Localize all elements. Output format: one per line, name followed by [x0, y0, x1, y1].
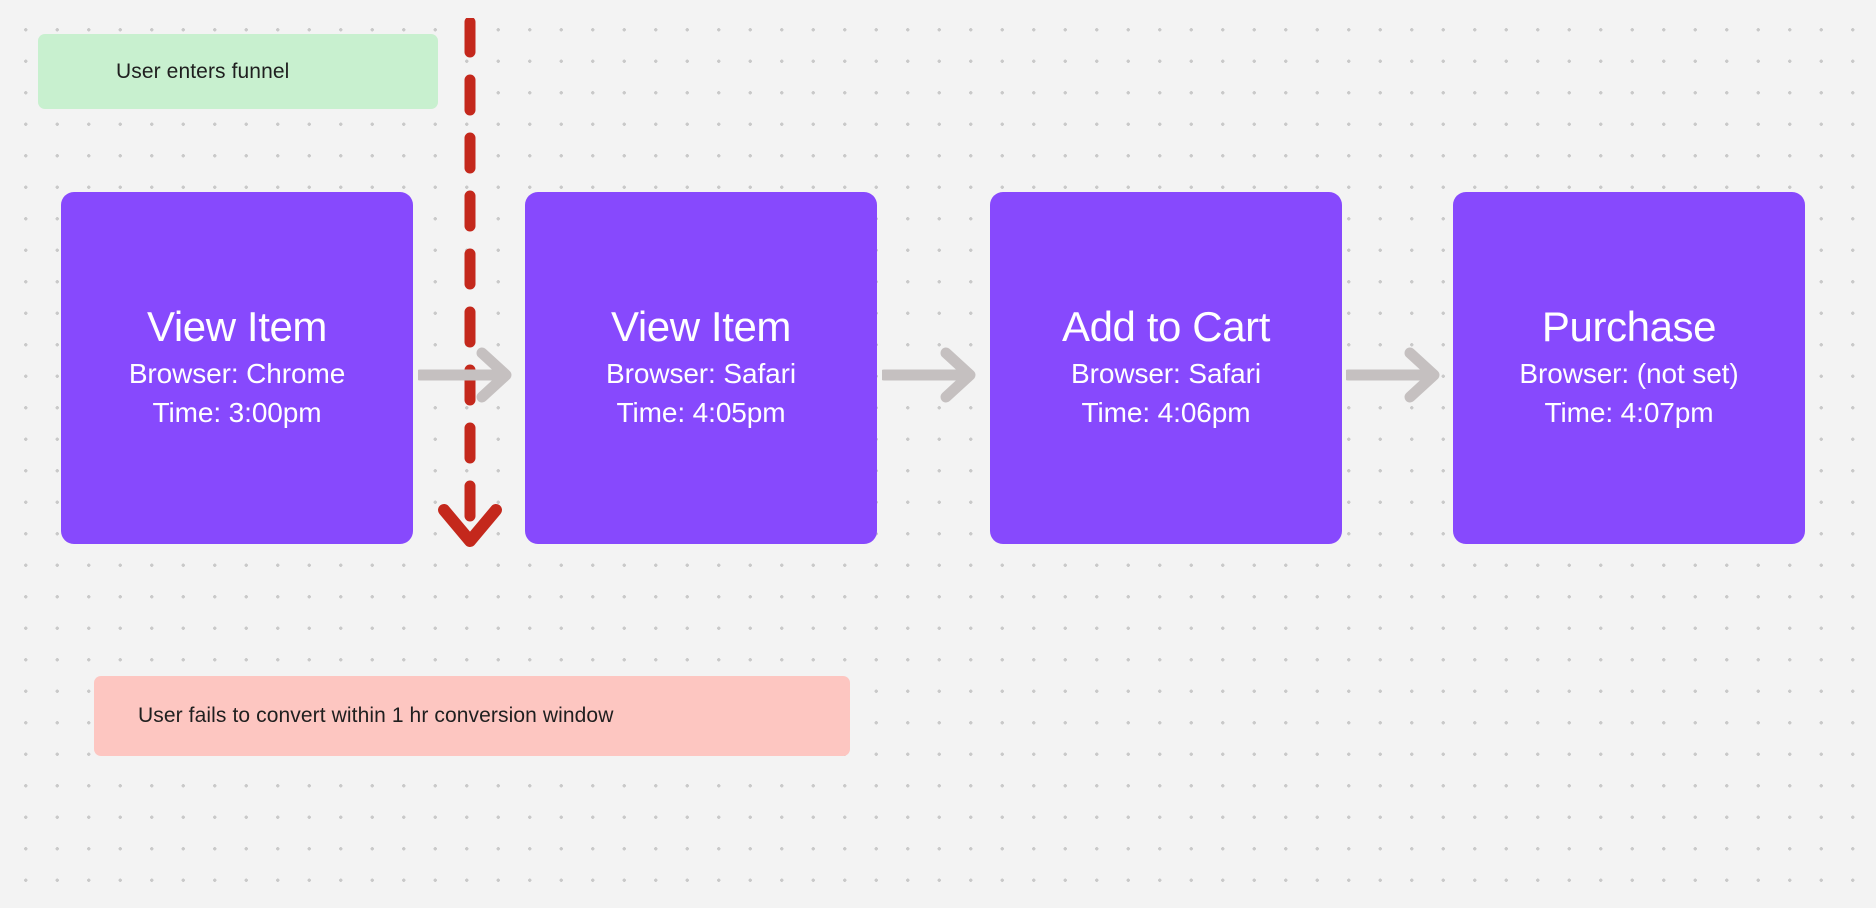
arrow-right-icon — [418, 347, 514, 403]
entry-annotation-label: User enters funnel — [116, 60, 289, 84]
failure-annotation-label: User fails to convert within 1 hr conver… — [138, 704, 613, 728]
step-title: View Item — [147, 303, 327, 352]
step-title: View Item — [611, 303, 791, 352]
step-browser: Browser: Safari — [1071, 354, 1261, 393]
step-title: Add to Cart — [1062, 303, 1270, 352]
funnel-diagram-canvas: User enters funnel View Item Browser: Ch… — [0, 0, 1876, 908]
funnel-step-card[interactable]: Purchase Browser: (not set) Time: 4:07pm — [1453, 192, 1805, 544]
step-time: Time: 4:07pm — [1545, 393, 1714, 432]
step-browser: Browser: (not set) — [1519, 354, 1738, 393]
step-title: Purchase — [1542, 303, 1716, 352]
funnel-step-card[interactable]: View Item Browser: Safari Time: 4:05pm — [525, 192, 877, 544]
step-browser: Browser: Chrome — [129, 354, 345, 393]
funnel-step-card[interactable]: Add to Cart Browser: Safari Time: 4:06pm — [990, 192, 1342, 544]
failure-annotation-box: User fails to convert within 1 hr conver… — [94, 676, 850, 756]
step-time: Time: 4:06pm — [1082, 393, 1251, 432]
funnel-step-card[interactable]: View Item Browser: Chrome Time: 3:00pm — [61, 192, 413, 544]
arrow-right-icon — [1346, 347, 1442, 403]
step-browser: Browser: Safari — [606, 354, 796, 393]
arrow-right-icon — [882, 347, 978, 403]
step-time: Time: 3:00pm — [153, 393, 322, 432]
step-time: Time: 4:05pm — [617, 393, 786, 432]
entry-annotation-box: User enters funnel — [38, 34, 438, 109]
